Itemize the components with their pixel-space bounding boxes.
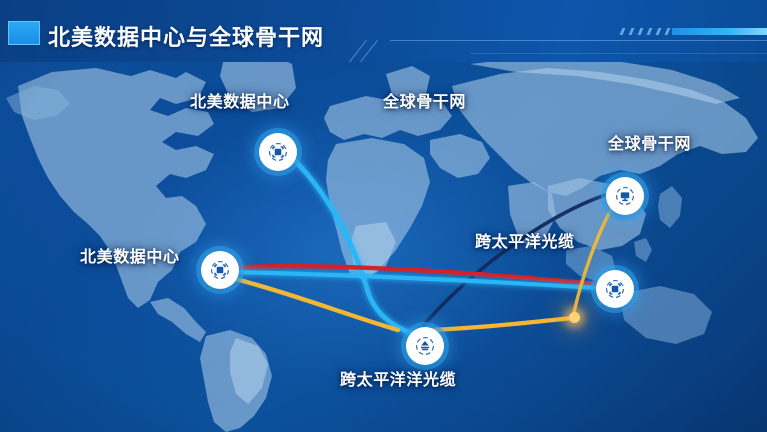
header-diagonal-line [359,40,378,62]
node-north-america-hub[interactable] [201,251,239,289]
monitor-icon [614,185,636,207]
header-accent-block [8,21,40,45]
header-bar: 北美数据中心与全球骨干网 [0,0,767,62]
header-rule [390,40,767,41]
cloud-upload-icon [414,335,436,357]
server-chip-icon [604,278,626,300]
slide-root: 北美数据中心 全球骨干网 全球骨干网 北美数据中心 跨太平洋光缆 跨太平洋洋光缆… [0,0,767,432]
node-asia-north[interactable] [606,177,644,215]
label-pacific-cable: 跨太平洋光缆 [475,228,575,252]
node-south-america[interactable] [406,327,444,365]
header-diagonal-line-2 [348,40,367,62]
label-pacific-cable-2: 跨太平洋洋光缆 [340,366,456,390]
label-na-dc-left: 北美数据中心 [80,243,180,267]
label-na-dc-top: 北美数据中心 [190,88,290,112]
header-rule-2 [470,53,767,54]
server-chip-icon [209,259,231,281]
node-north-america-north[interactable] [259,133,297,171]
header-accent-bar [672,28,767,35]
label-backbone-right: 全球骨干网 [608,130,691,154]
page-title: 北美数据中心与全球骨干网 [48,20,324,52]
endpoint-southeast-asia-glow [569,312,580,323]
node-asia-east[interactable] [596,270,634,308]
label-backbone-top: 全球骨干网 [383,88,466,112]
server-chip-icon [267,141,289,163]
